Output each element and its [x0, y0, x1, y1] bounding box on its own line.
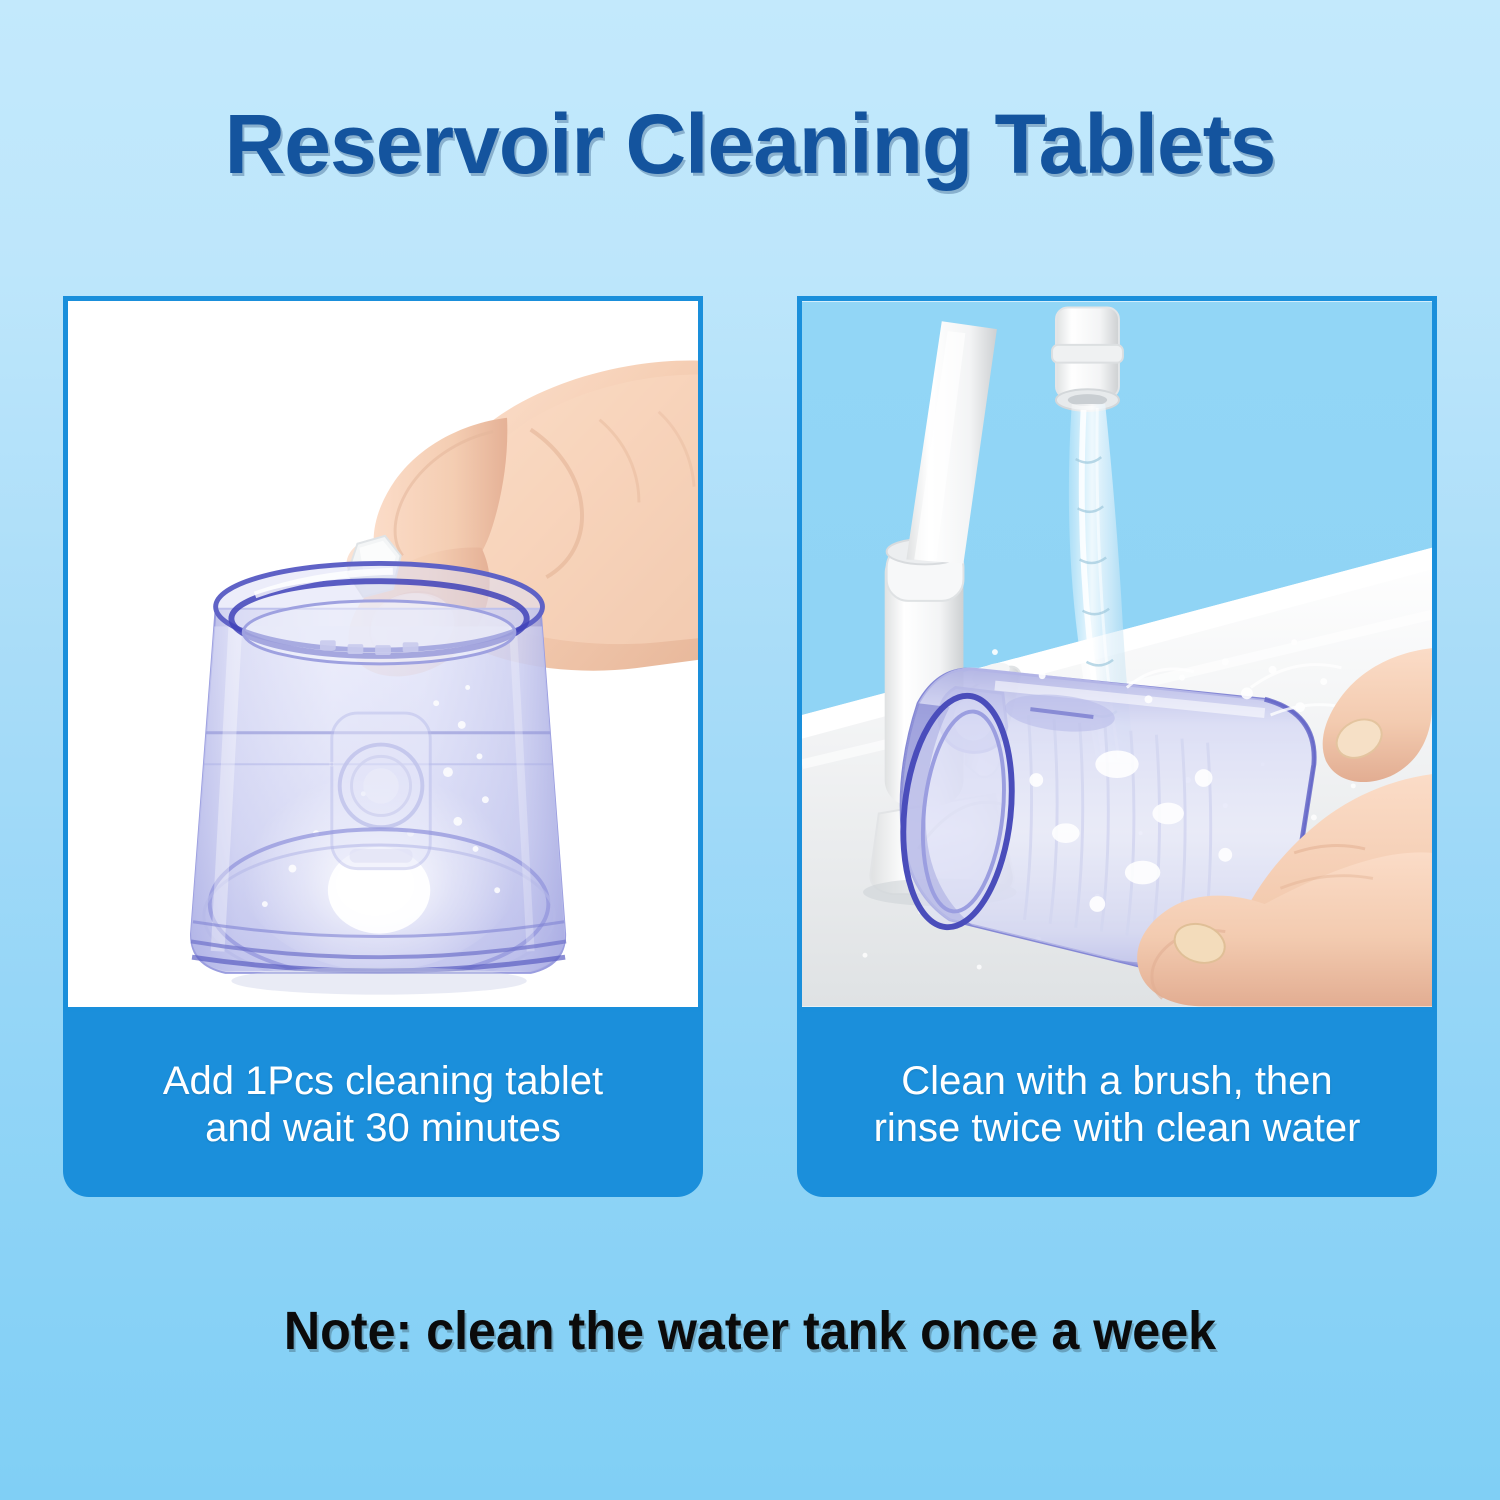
- caption-line-1: Add 1Pcs cleaning tablet: [163, 1058, 603, 1104]
- caption-line-2: and wait 30 minutes: [163, 1105, 603, 1151]
- step-card-rinse: Clean with a brush, then rinse twice wit…: [797, 296, 1437, 1197]
- photo-rinse: [797, 296, 1437, 1012]
- infographic-root: Reservoir Cleaning Tablets: [0, 0, 1500, 1500]
- page-title: Reservoir Cleaning Tablets: [0, 96, 1500, 193]
- step-card-add-tablet: Add 1Pcs cleaning tablet and wait 30 min…: [63, 296, 703, 1197]
- footer-note: Note: clean the water tank once a week: [53, 1300, 1448, 1362]
- caption-rinse: Clean with a brush, then rinse twice wit…: [797, 1012, 1437, 1197]
- caption-add-tablet: Add 1Pcs cleaning tablet and wait 30 min…: [63, 1012, 703, 1197]
- caption-line-1: Clean with a brush, then: [874, 1058, 1361, 1104]
- caption-line-2: rinse twice with clean water: [874, 1105, 1361, 1151]
- photo-add-tablet: [63, 296, 703, 1012]
- reservoir-tank: [186, 563, 570, 986]
